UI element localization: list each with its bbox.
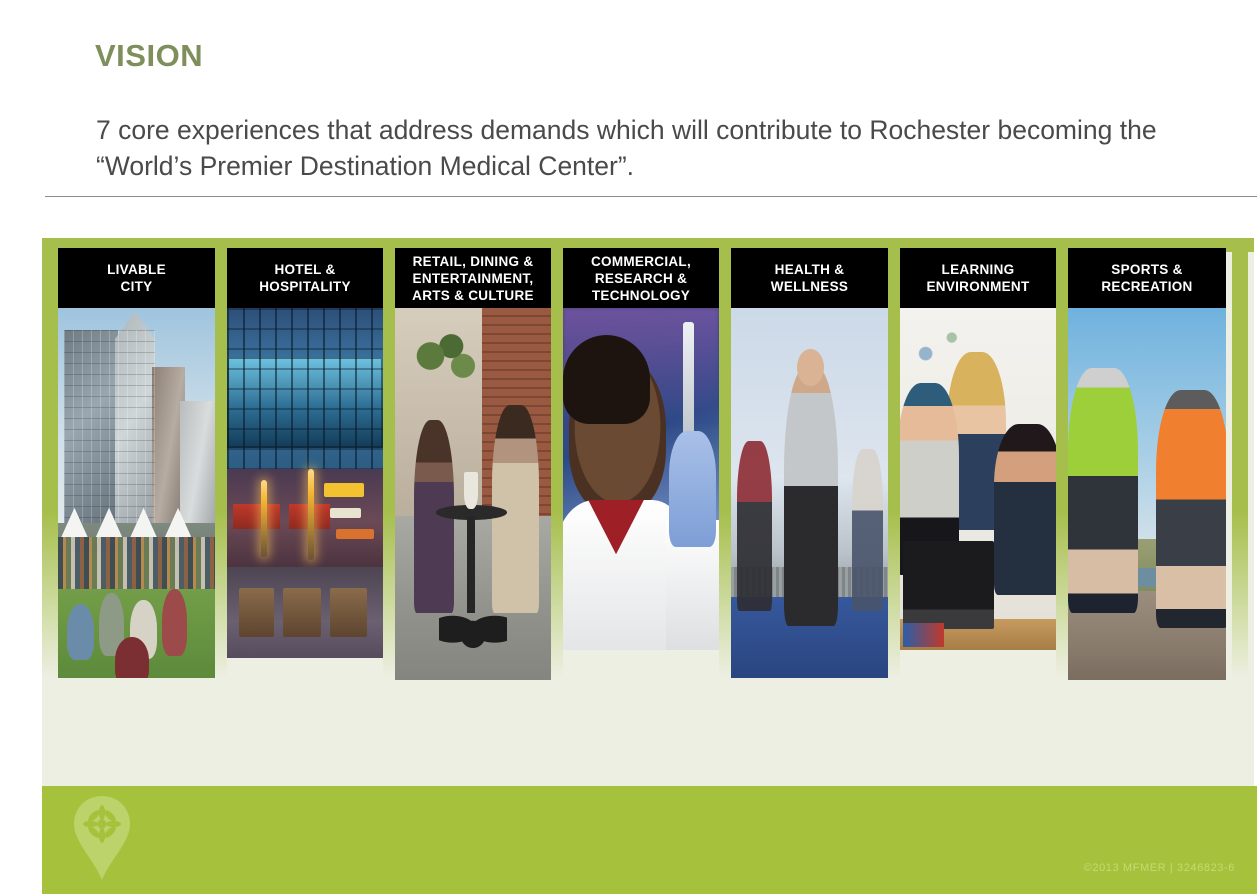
- page-subtitle: 7 core experiences that address demands …: [96, 112, 1216, 184]
- column-label-commercial-research: COMMERCIAL, RESEARCH & TECHNOLOGY: [591, 253, 691, 304]
- outdoor-yoga-photo: [731, 308, 888, 678]
- mayo-clinic-pin-logo: [70, 794, 134, 882]
- experience-column-sports-recreation[interactable]: SPORTS & RECREATION: [1068, 248, 1226, 680]
- column-header-retail-dining: RETAIL, DINING & ENTERTAINMENT, ARTS & C…: [395, 248, 551, 308]
- column-header-health-wellness: HEALTH & WELLNESS: [731, 248, 888, 308]
- column-label-learning-environment: LEARNING ENVIRONMENT: [926, 261, 1029, 295]
- column-header-commercial-research: COMMERCIAL, RESEARCH & TECHNOLOGY: [563, 248, 719, 308]
- experience-column-retail-dining[interactable]: RETAIL, DINING & ENTERTAINMENT, ARTS & C…: [395, 248, 551, 680]
- gutter-right: [1232, 238, 1248, 678]
- experience-column-health-wellness[interactable]: HEALTH & WELLNESS: [731, 248, 888, 678]
- cafe-couple-photo: [395, 308, 551, 680]
- footer-band: ©2013 MFMER | 3246823-6: [42, 786, 1257, 894]
- gutter-6: [1056, 238, 1068, 678]
- header-divider: [45, 196, 1257, 197]
- column-header-hotel-hospitality: HOTEL & HOSPITALITY: [227, 248, 383, 308]
- column-header-learning-environment: LEARNING ENVIRONMENT: [900, 248, 1056, 308]
- column-header-sports-recreation: SPORTS & RECREATION: [1068, 248, 1226, 308]
- experience-column-learning-environment[interactable]: LEARNING ENVIRONMENT: [900, 248, 1056, 650]
- column-header-livable-city: LIVABLE CITY: [58, 248, 215, 308]
- experience-column-livable-city[interactable]: LIVABLE CITY: [58, 248, 215, 678]
- experience-column-hotel-hospitality[interactable]: HOTEL & HOSPITALITY: [227, 248, 383, 658]
- column-label-hotel-hospitality: HOTEL & HOSPITALITY: [259, 261, 351, 295]
- gutter-1: [215, 238, 227, 678]
- gutter-3: [551, 238, 563, 678]
- column-label-retail-dining: RETAIL, DINING & ENTERTAINMENT, ARTS & C…: [412, 253, 534, 304]
- gutter-2: [383, 238, 395, 678]
- students-with-laptop-photo: [900, 308, 1056, 650]
- experiences-panel: LIVABLE CITY: [42, 238, 1254, 786]
- evening-streetscape-photo: [227, 308, 383, 658]
- gutter-4: [719, 238, 731, 678]
- column-label-livable-city: LIVABLE CITY: [107, 261, 166, 295]
- copyright-text: ©2013 MFMER | 3246823-6: [1084, 862, 1235, 874]
- two-runners-photo: [1068, 308, 1226, 680]
- gutter-5: [888, 238, 900, 678]
- column-label-health-wellness: HEALTH & WELLNESS: [771, 261, 848, 295]
- gutter-left: [42, 238, 58, 678]
- page-title: VISION: [95, 38, 203, 74]
- lab-scientist-pipette-photo: [563, 308, 719, 650]
- column-label-sports-recreation: SPORTS & RECREATION: [1101, 261, 1192, 295]
- downtown-plaza-crowd-photo: [58, 308, 215, 678]
- experience-column-commercial-research[interactable]: COMMERCIAL, RESEARCH & TECHNOLOGY: [563, 248, 719, 650]
